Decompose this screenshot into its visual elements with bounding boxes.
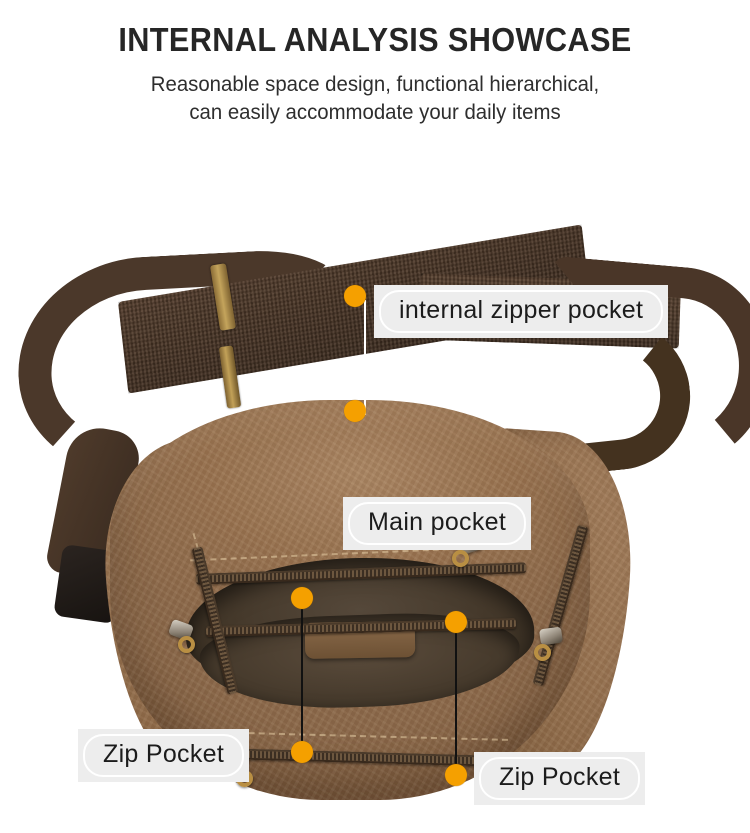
callout-label-text-internal-zipper-pocket: internal zipper pocket <box>379 290 663 333</box>
callout-connector-internal-zipper-pocket <box>364 300 366 415</box>
callout-label-main-pocket[interactable]: Main pocket <box>343 497 531 550</box>
callout-label-text-zip-pocket-right: Zip Pocket <box>479 757 640 800</box>
callout-label-zip-pocket-right[interactable]: Zip Pocket <box>474 752 645 805</box>
callout-label-text-zip-pocket-left: Zip Pocket <box>83 734 244 777</box>
callout-dot-anchor-zip-pocket-right[interactable] <box>445 611 467 633</box>
callout-connector-zip-pocket-left <box>301 600 303 755</box>
callout-dot-label-zip-pocket-right[interactable] <box>445 764 467 786</box>
callout-overlay: internal zipper pocket Main pocket Zip P… <box>0 0 750 833</box>
callout-label-zip-pocket-left[interactable]: Zip Pocket <box>78 729 249 782</box>
callout-dot-label-zip-pocket-left[interactable] <box>291 741 313 763</box>
callout-connector-zip-pocket-right <box>455 624 457 778</box>
callout-label-internal-zipper-pocket[interactable]: internal zipper pocket <box>374 285 668 338</box>
callout-label-text-main-pocket: Main pocket <box>348 502 526 545</box>
callout-dot-label-internal-zipper-pocket[interactable] <box>344 285 366 307</box>
callout-dot-anchor-zip-pocket-left[interactable] <box>291 587 313 609</box>
callout-dot-anchor-internal-zipper-pocket[interactable] <box>344 400 366 422</box>
